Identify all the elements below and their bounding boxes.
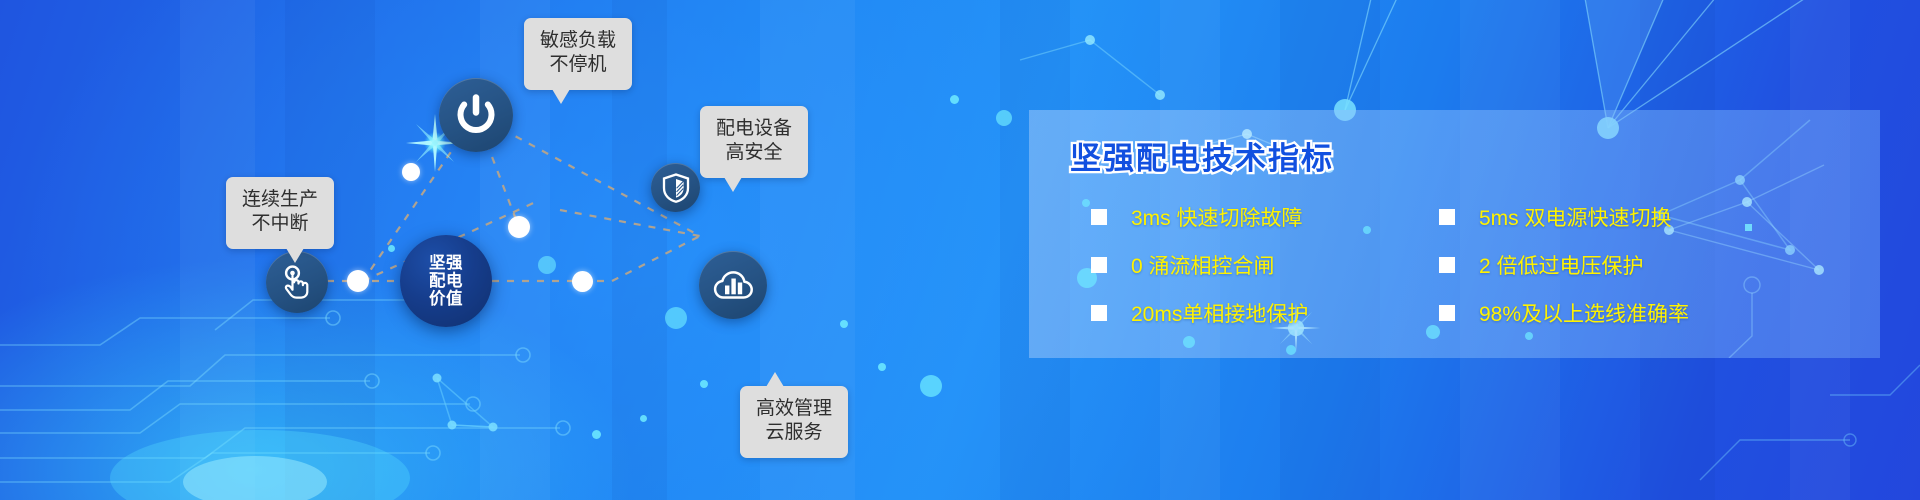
bullet-square-icon (1091, 209, 1107, 225)
accent-dot (840, 320, 848, 328)
callout-tail (552, 89, 570, 104)
value-diagram: 坚强 配电 价值 (0, 0, 1030, 500)
node-power[interactable] (439, 78, 513, 152)
panel-title: 坚强配电技术指标 (1070, 133, 1334, 178)
accent-dot (996, 110, 1012, 126)
junction-dot (347, 270, 369, 292)
bullet-square-icon (1439, 209, 1455, 225)
bullet-item: 0 涌流相控合闸 (1091, 250, 1439, 280)
callout-power-line-2: 不停机 (540, 53, 616, 77)
diagram-connector-lines (0, 0, 1030, 500)
node-shield[interactable] (651, 163, 700, 212)
bullet-item: 5ms 双电源快速切换 (1439, 202, 1871, 232)
tech-spec-panel: 坚强配电技术指标 3ms 快速切除故障 5ms 双电源快速切换 0 涌流相控合闸… (1029, 110, 1880, 358)
callout-tail (766, 372, 784, 387)
bullet-text: 0 涌流相控合闸 (1131, 250, 1275, 280)
node-cloud-chart[interactable] (699, 251, 767, 319)
callout-cloud-line-1: 高效管理 (756, 397, 832, 421)
callout-shield: 配电设备 高安全 (700, 106, 808, 178)
bullet-text: 20ms单相接地保护 (1131, 298, 1308, 328)
callout-cloud-line-2: 云服务 (756, 421, 832, 445)
accent-dot (665, 307, 687, 329)
hub-line-1: 坚强 (429, 254, 463, 272)
hub-line-3: 价值 (429, 290, 463, 308)
accent-dot (388, 245, 395, 252)
power-icon (455, 94, 497, 136)
callout-tail (286, 248, 304, 263)
bullet-square-icon (1091, 257, 1107, 273)
junction-dot (572, 271, 593, 292)
accent-dot (878, 363, 886, 371)
callout-cloud: 高效管理 云服务 (740, 386, 848, 458)
callout-touch-line-2: 不中断 (242, 212, 318, 236)
callout-power-line-1: 敏感负载 (540, 29, 616, 53)
banner-stage: 坚强 配电 价值 (0, 0, 1920, 500)
bullet-text: 5ms 双电源快速切换 (1479, 202, 1672, 232)
bullet-square-icon (1439, 257, 1455, 273)
bullet-item: 20ms单相接地保护 (1091, 298, 1439, 328)
bullet-text: 98%及以上选线准确率 (1479, 298, 1689, 328)
accent-dot (950, 95, 959, 104)
bullet-square-icon (1091, 305, 1107, 321)
bullet-grid: 3ms 快速切除故障 5ms 双电源快速切换 0 涌流相控合闸 2 倍低过电压保… (1091, 202, 1871, 328)
accent-dot (538, 256, 556, 274)
callout-touch-line-1: 连续生产 (242, 188, 318, 212)
hub-line-2: 配电 (429, 272, 463, 290)
accent-dot (700, 380, 708, 388)
accent-dot (592, 430, 601, 439)
junction-dot (402, 163, 420, 181)
bullet-item: 2 倍低过电压保护 (1439, 250, 1871, 280)
bullet-square-icon (1439, 305, 1455, 321)
bullet-item: 3ms 快速切除故障 (1091, 202, 1439, 232)
diagram-hub[interactable]: 坚强 配电 价值 (400, 235, 492, 327)
callout-shield-line-2: 高安全 (716, 141, 792, 165)
callout-shield-line-1: 配电设备 (716, 117, 792, 141)
callout-touch: 连续生产 不中断 (226, 177, 334, 249)
accent-dot (640, 415, 647, 422)
bullet-text: 2 倍低过电压保护 (1479, 250, 1644, 280)
callout-power: 敏感负载 不停机 (524, 18, 632, 90)
shield-icon (662, 173, 690, 203)
cloud-bar-chart-icon (712, 268, 754, 302)
junction-dot (508, 216, 530, 238)
callout-tail (724, 177, 742, 192)
accent-dot (920, 375, 942, 397)
touch-hand-icon (279, 263, 315, 301)
bullet-text: 3ms 快速切除故障 (1131, 202, 1303, 232)
bullet-item: 98%及以上选线准确率 (1439, 298, 1871, 328)
